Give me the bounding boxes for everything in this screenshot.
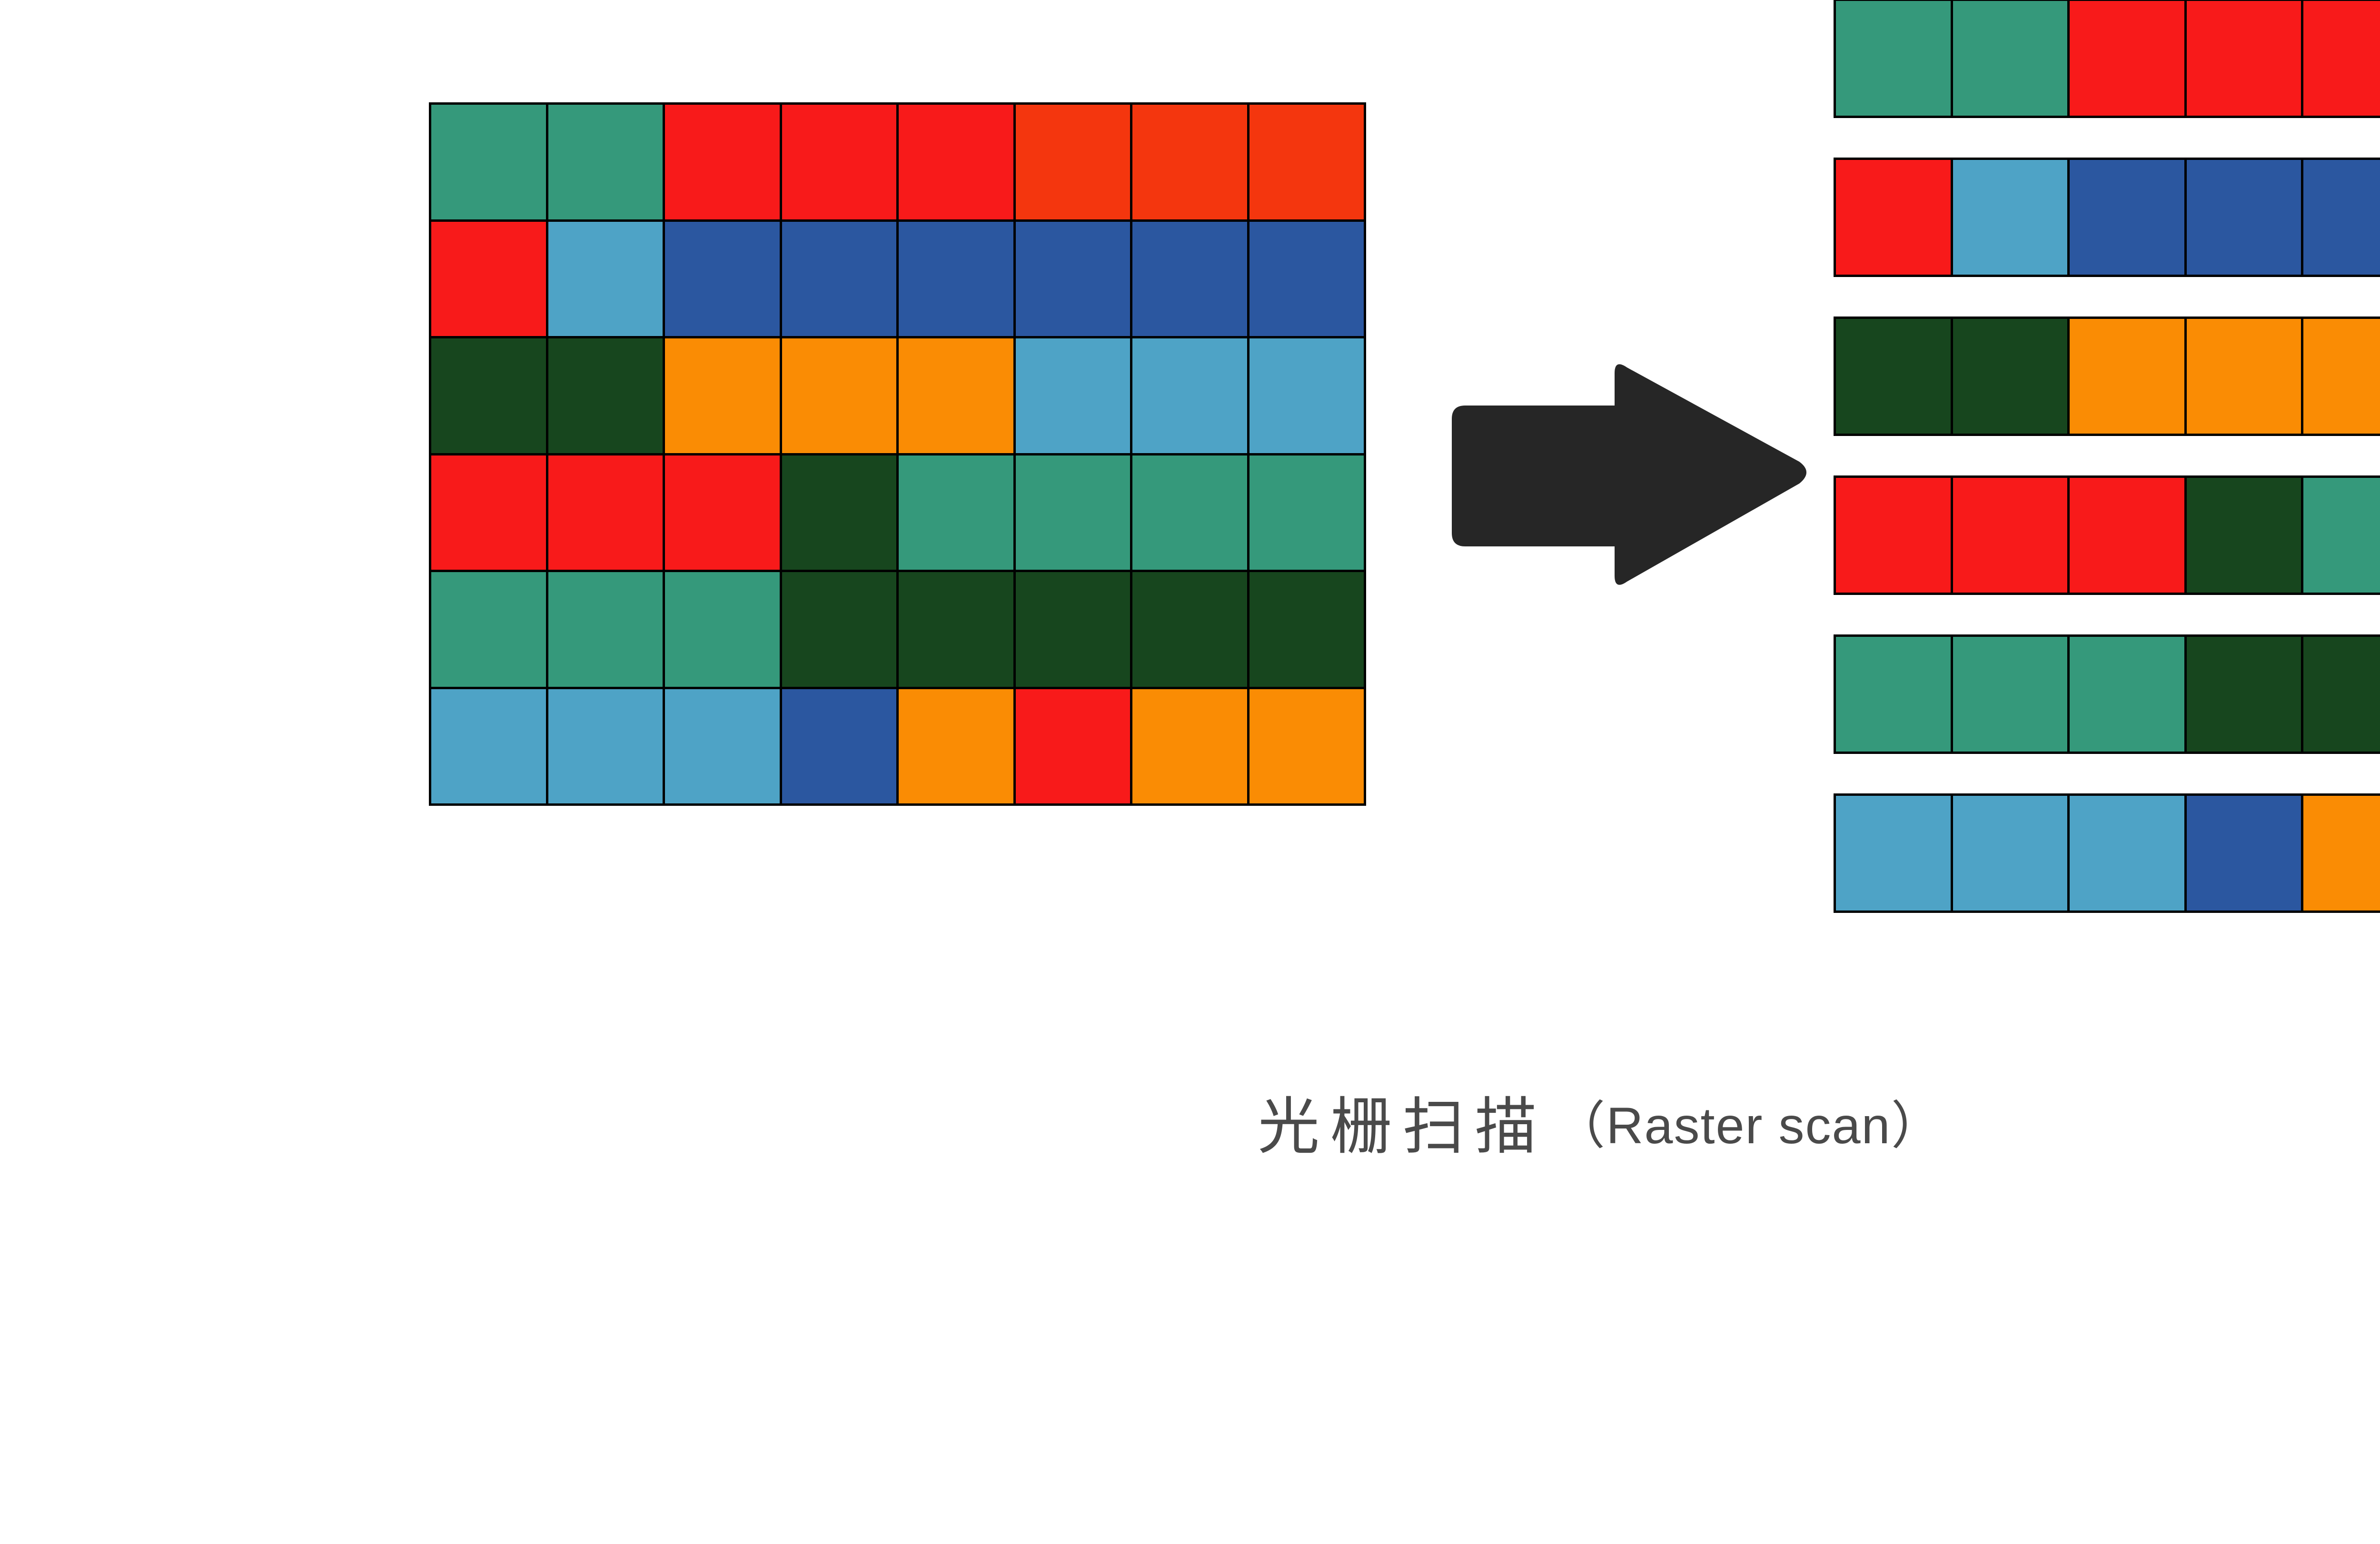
caption: 光栅扫描（Raster scan） bbox=[0, 1077, 2380, 1166]
scanline-row bbox=[1834, 317, 2380, 436]
pixel-cell bbox=[1016, 338, 1130, 453]
pixel-cell bbox=[431, 455, 546, 570]
pixel-cell bbox=[1132, 105, 1247, 219]
scanline-cell bbox=[2303, 796, 2380, 911]
pixel-cell bbox=[1249, 572, 1364, 687]
scanline-cell bbox=[2303, 319, 2380, 434]
scanline-row bbox=[1834, 634, 2380, 754]
pixel-cell bbox=[1132, 572, 1247, 687]
scanline-cell bbox=[1836, 319, 1951, 434]
scanline-cell bbox=[2303, 637, 2380, 752]
pixel-cell bbox=[665, 338, 780, 453]
pixel-cell bbox=[1016, 455, 1130, 570]
scanline-cell bbox=[2070, 637, 2184, 752]
pixel-cell bbox=[899, 689, 1013, 804]
pixel-cell bbox=[548, 222, 663, 337]
pixel-cell bbox=[665, 455, 780, 570]
scanline-row bbox=[1834, 0, 2380, 118]
pixel-cell bbox=[431, 689, 546, 804]
scanline-cell bbox=[2070, 478, 2184, 593]
scanline-cell bbox=[2070, 1, 2184, 116]
pixel-cell bbox=[899, 222, 1013, 337]
pixel-cell bbox=[1132, 689, 1247, 804]
scanline-cell bbox=[2070, 796, 2184, 911]
pixel-cell bbox=[1249, 689, 1364, 804]
scanline-row bbox=[1834, 475, 2380, 595]
pixel-cell bbox=[899, 455, 1013, 570]
scanline-cell bbox=[1953, 1, 2068, 116]
pixel-cell bbox=[548, 689, 663, 804]
scanline-cell bbox=[1836, 160, 1951, 275]
scanline-cell bbox=[1836, 1, 1951, 116]
raster-scanline-sequence bbox=[1834, 0, 2380, 913]
pixel-cell bbox=[665, 689, 780, 804]
scanline-cell bbox=[2187, 1, 2301, 116]
scanline-cell bbox=[1836, 637, 1951, 752]
pixel-cell bbox=[1016, 689, 1130, 804]
pixel-cell bbox=[1016, 572, 1130, 687]
pixel-cell bbox=[782, 222, 897, 337]
pixel-cell bbox=[1249, 222, 1364, 337]
scanline-cell bbox=[1953, 796, 2068, 911]
source-pixel-grid bbox=[429, 102, 1366, 806]
pixel-grid-cells bbox=[429, 102, 1366, 806]
pixel-cell bbox=[431, 572, 546, 687]
pixel-cell bbox=[1016, 222, 1130, 337]
pixel-cell bbox=[1132, 455, 1247, 570]
scanline-cell bbox=[2187, 160, 2301, 275]
scanline-cell bbox=[2303, 1, 2380, 116]
scanline-cell bbox=[1953, 160, 2068, 275]
scanline-cell bbox=[2070, 160, 2184, 275]
pixel-cell bbox=[431, 222, 546, 337]
scanline-cell bbox=[2303, 478, 2380, 593]
pixel-cell bbox=[665, 572, 780, 687]
pixel-cell bbox=[1132, 222, 1247, 337]
arrow-right-icon bbox=[1438, 362, 1818, 590]
pixel-cell bbox=[782, 105, 897, 219]
diagram-canvas: 光栅扫描（Raster scan） 头条@东东新一 bbox=[0, 0, 2380, 1544]
pixel-cell bbox=[782, 338, 897, 453]
scanline-row bbox=[1834, 158, 2380, 277]
pixel-cell bbox=[1249, 105, 1364, 219]
scanline-cell bbox=[1953, 319, 2068, 434]
caption-chinese: 光栅扫描 bbox=[1258, 1092, 1547, 1161]
scanline-cell bbox=[2070, 319, 2184, 434]
caption-english: （Raster scan） bbox=[1554, 1097, 1943, 1154]
pixel-cell bbox=[548, 572, 663, 687]
pixel-cell bbox=[548, 105, 663, 219]
pixel-cell bbox=[665, 105, 780, 219]
pixel-cell bbox=[1249, 455, 1364, 570]
pixel-cell bbox=[1132, 338, 1247, 453]
pixel-cell bbox=[899, 105, 1013, 219]
scanline-cell bbox=[1953, 637, 2068, 752]
pixel-cell bbox=[782, 689, 897, 804]
pixel-cell bbox=[899, 572, 1013, 687]
scanline-row bbox=[1834, 793, 2380, 913]
pixel-cell bbox=[548, 338, 663, 453]
pixel-cell bbox=[431, 338, 546, 453]
pixel-cell bbox=[548, 455, 663, 570]
scanline-cell bbox=[1836, 478, 1951, 593]
scanline-cell bbox=[2187, 319, 2301, 434]
pixel-cell bbox=[782, 455, 897, 570]
scanline-cell bbox=[2187, 478, 2301, 593]
scanline-cell bbox=[2187, 796, 2301, 911]
pixel-cell bbox=[899, 338, 1013, 453]
scanline-cell bbox=[1836, 796, 1951, 911]
scanline-cell bbox=[2303, 160, 2380, 275]
scanline-cell bbox=[2187, 637, 2301, 752]
pixel-cell bbox=[431, 105, 546, 219]
pixel-cell bbox=[1016, 105, 1130, 219]
pixel-cell bbox=[1249, 338, 1364, 453]
pixel-cell bbox=[665, 222, 780, 337]
scanline-cell bbox=[1953, 478, 2068, 593]
pixel-cell bbox=[782, 572, 897, 687]
